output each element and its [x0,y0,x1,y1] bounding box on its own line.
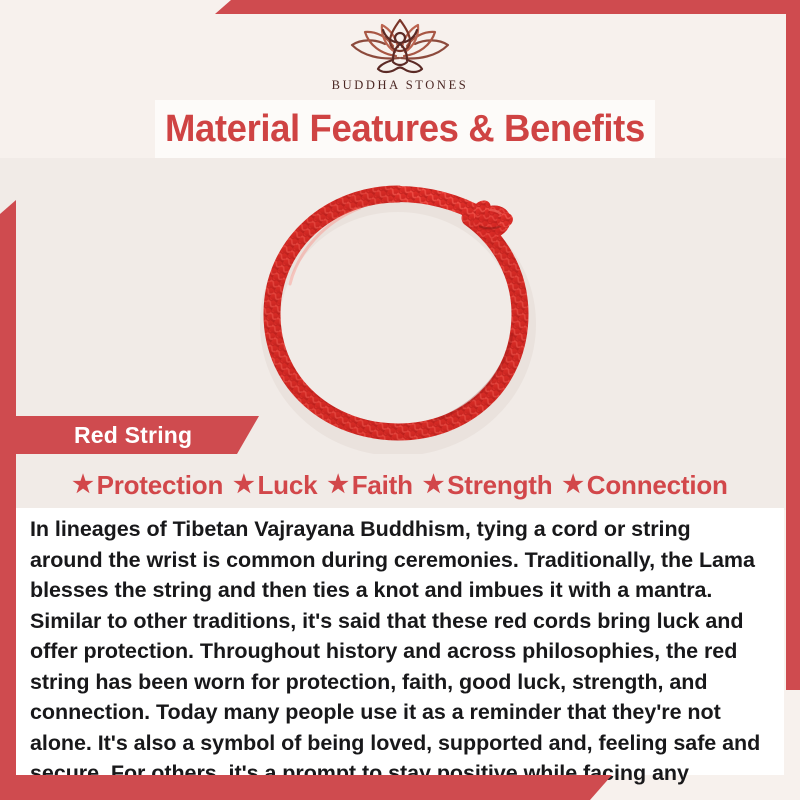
description-panel: In lineages of Tibetan Vajrayana Buddhis… [16,508,784,775]
keyword-faith: ★ Faith [327,470,412,501]
keyword-label: Connection [587,470,728,501]
keyword-label: Protection [97,470,224,501]
benefit-keyword-row: ★ Protection ★ Luck ★ Faith ★ Strength ★… [16,466,784,504]
title-band: Material Features & Benefits [155,100,655,158]
page-title: Material Features & Benefits [165,108,645,151]
keyword-label: Luck [257,470,317,501]
brand-name: BUDDHA STONES [295,78,505,93]
brand-logo: BUDDHA STONES [295,14,505,93]
decorative-right-bar [786,0,800,690]
decorative-bottom-bar [0,775,612,800]
keyword-connection: ★ Connection [562,470,727,501]
keyword-label: Faith [352,470,413,501]
infographic-canvas: BUDDHA STONES Material Features & Benefi… [0,0,800,800]
description-paragraph: In lineages of Tibetan Vajrayana Buddhis… [30,514,762,800]
keyword-label: Strength [447,470,552,501]
red-string-bracelet-image [220,164,580,454]
star-icon: ★ [233,473,254,497]
red-string-banner: Red String [16,416,259,454]
keyword-luck: ★ Luck [233,470,317,501]
star-icon: ★ [423,473,444,497]
keyword-protection: ★ Protection [72,470,223,501]
decorative-left-bar [0,200,16,775]
lotus-meditation-icon [325,14,475,76]
star-icon: ★ [562,473,583,497]
star-icon: ★ [72,473,93,497]
header: BUDDHA STONES [0,0,800,100]
decorative-top-bar [215,0,800,14]
keyword-strength: ★ Strength [423,470,553,501]
banner-label: Red String [74,422,192,449]
product-image-area [0,158,800,510]
star-icon: ★ [327,473,348,497]
